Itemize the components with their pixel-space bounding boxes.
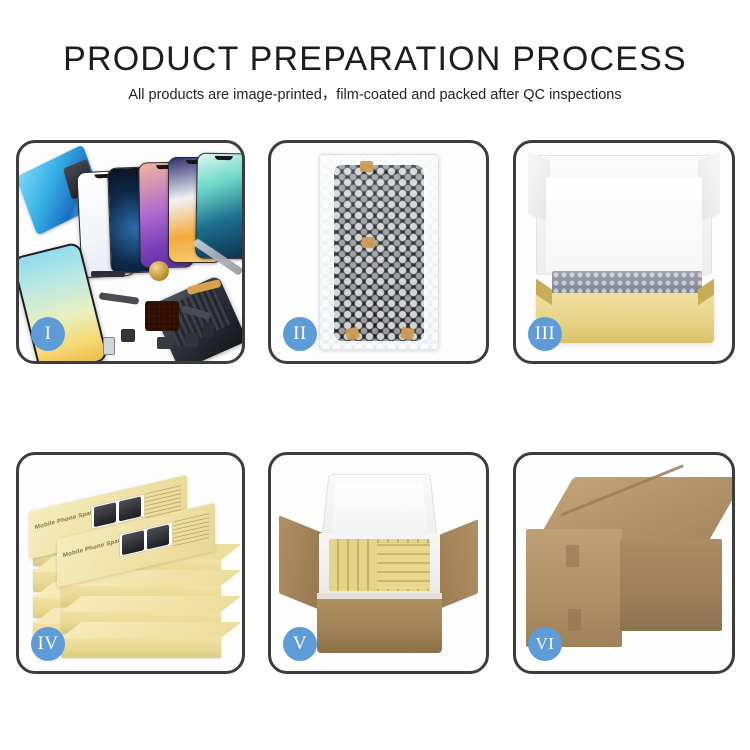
small-module-part <box>121 329 135 342</box>
flex-cable-small-part <box>181 305 212 320</box>
box-right-face <box>620 539 722 631</box>
product-window-phone <box>122 530 144 555</box>
connector-part <box>185 333 198 347</box>
process-step-4: Mobile Phone Spare Parts Mobile Phone Sp… <box>16 452 245 674</box>
product-window-phone <box>119 496 141 521</box>
retail-box-slab <box>61 635 221 658</box>
yellow-box-row-right <box>377 543 430 589</box>
process-step-grid: I II <box>0 0 750 750</box>
step-badge-4: IV <box>31 627 65 661</box>
chip-grid-part <box>145 301 179 331</box>
open-kraft-box <box>524 155 724 347</box>
process-step-3: III <box>513 140 735 364</box>
camera-module-part <box>157 337 173 349</box>
product-window-phone <box>94 502 116 527</box>
vibrator-part <box>203 323 214 338</box>
process-step-1: I <box>16 140 245 364</box>
process-step-2: II <box>268 140 489 364</box>
box-tab <box>566 545 579 567</box>
flex-cable-gold-part <box>187 279 222 295</box>
box-tab <box>568 609 581 631</box>
step-badge-3: III <box>528 317 562 351</box>
product-preparation-infographic: PRODUCT PREPARATION PROCESS All products… <box>0 0 750 750</box>
process-step-6: VI <box>513 452 735 674</box>
spare-parts-cluster <box>97 265 242 361</box>
earpiece-part <box>91 271 125 277</box>
product-window <box>119 521 173 557</box>
speaker-mesh-part <box>149 261 169 281</box>
foam-panel <box>546 177 702 273</box>
step-badge-6: VI <box>528 627 562 661</box>
notch-icon <box>215 156 233 160</box>
bubble-texture-layer-offset <box>320 155 438 349</box>
step-badge-5: V <box>283 627 317 661</box>
tape-piece <box>362 237 375 248</box>
process-step-5: V <box>268 452 489 674</box>
tape-piece <box>400 327 415 340</box>
sim-tray-part <box>103 337 115 355</box>
step-badge-1: I <box>31 317 65 351</box>
carton-front-wall <box>317 593 442 653</box>
bubble-wrap-bag <box>319 154 439 350</box>
kraft-box-tray <box>536 293 714 343</box>
step-badge-2: II <box>283 317 317 351</box>
spec-text-block <box>173 512 209 546</box>
flex-cable-part <box>99 292 140 304</box>
tape-piece <box>360 161 373 172</box>
product-window-phone <box>147 524 169 549</box>
